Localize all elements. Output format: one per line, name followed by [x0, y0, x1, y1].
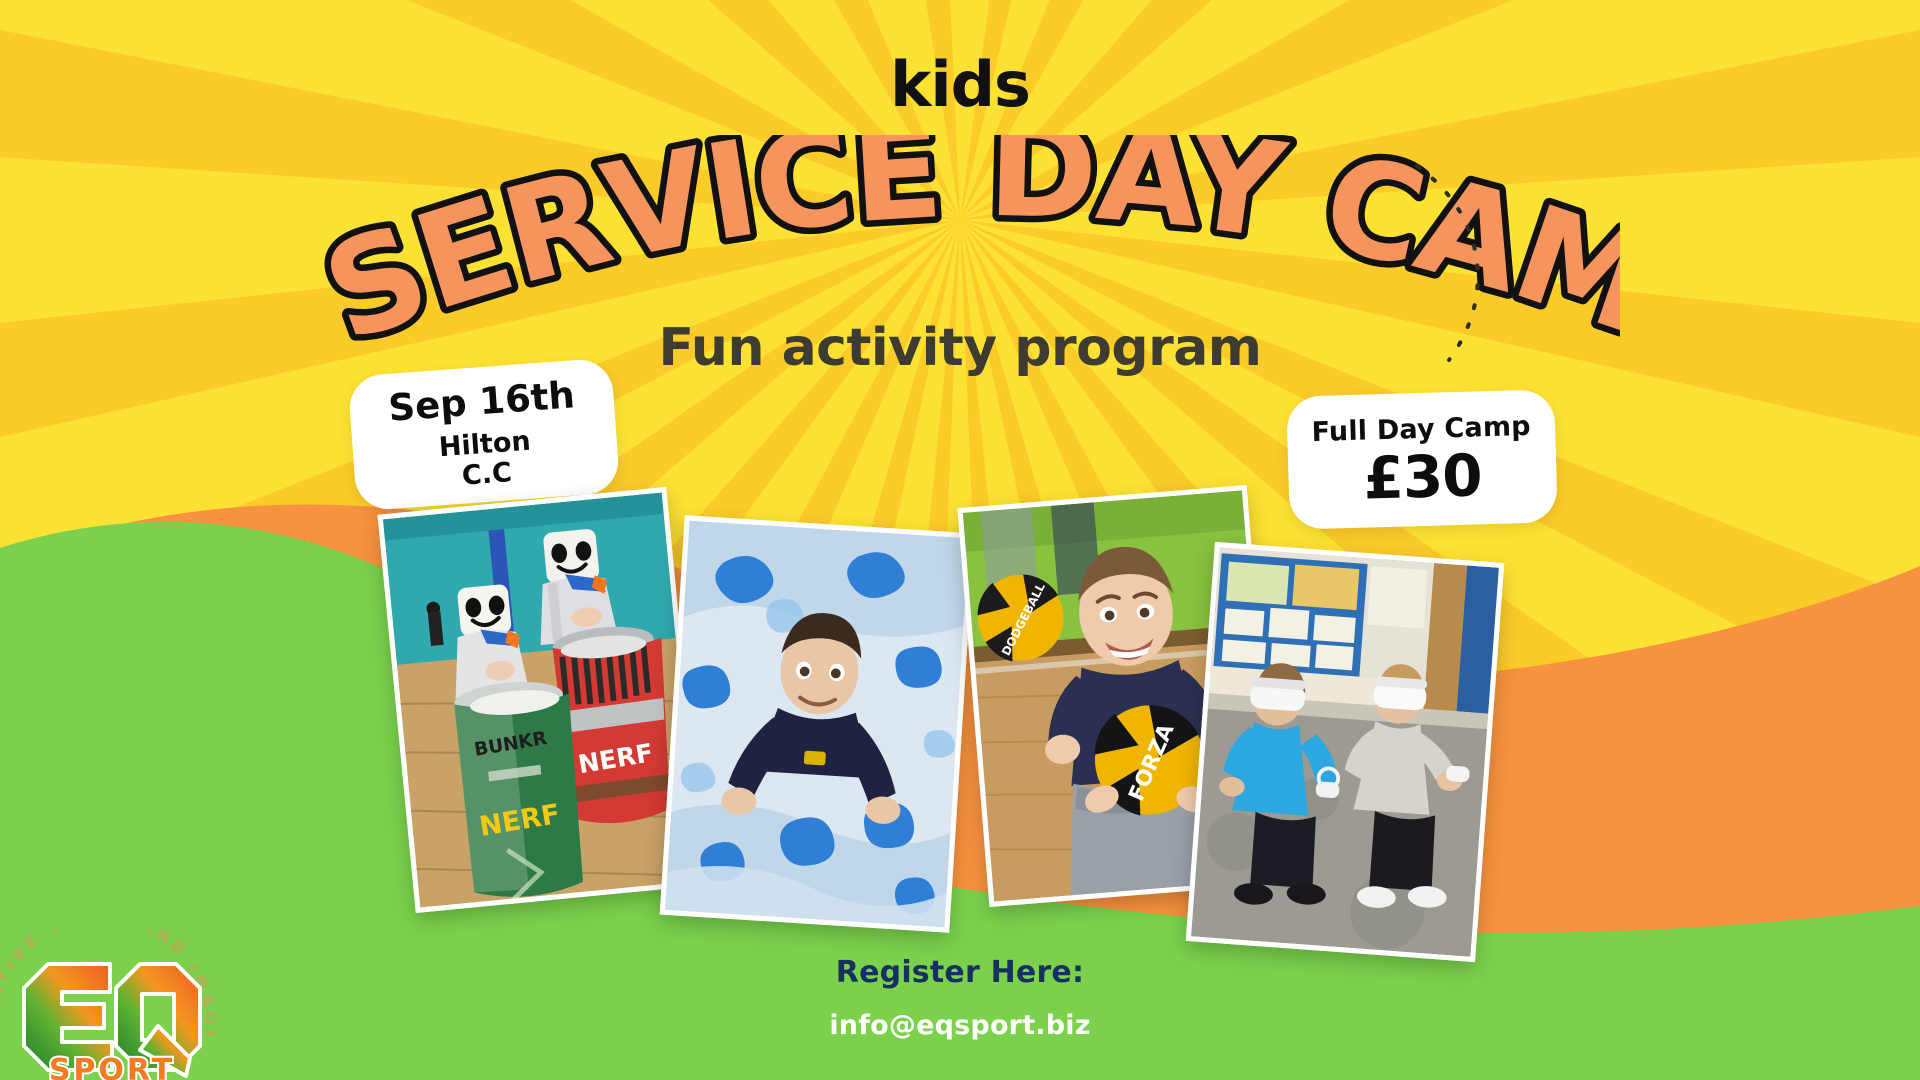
eq-sport-logo[interactable]: CREATIVE SPORT AND IMAGINATION COLLECTIV…: [0, 930, 230, 1080]
photo-vr-session[interactable]: [1186, 542, 1505, 962]
date-venue-badge[interactable]: Sep 16th Hilton C.C: [347, 358, 620, 512]
badge-price-value: £30: [1363, 446, 1483, 507]
poster-canvas: kids INSERVICE DAY CAMP Fun activity pro…: [0, 0, 1920, 1080]
photo-inflatable-tunnel[interactable]: [660, 515, 975, 932]
badge-price-label: Full Day Camp: [1311, 410, 1531, 447]
logo-wordmark: SPORT: [49, 1053, 175, 1080]
photo-nerf-battle[interactable]: NERF BUNKR NERF: [377, 487, 704, 913]
dotted-arc-decoration: [1395, 158, 1515, 368]
page-subtitle: Fun activity program: [0, 318, 1920, 378]
page-eyebrow: kids: [0, 48, 1920, 121]
badge-venue-line2: C.C: [461, 459, 513, 491]
price-badge[interactable]: Full Day Camp £30: [1286, 389, 1558, 529]
badge-date-value: Sep 16th: [387, 377, 576, 429]
register-email[interactable]: info@eqsport.biz: [0, 1010, 1920, 1041]
register-here-label: Register Here:: [0, 955, 1920, 990]
